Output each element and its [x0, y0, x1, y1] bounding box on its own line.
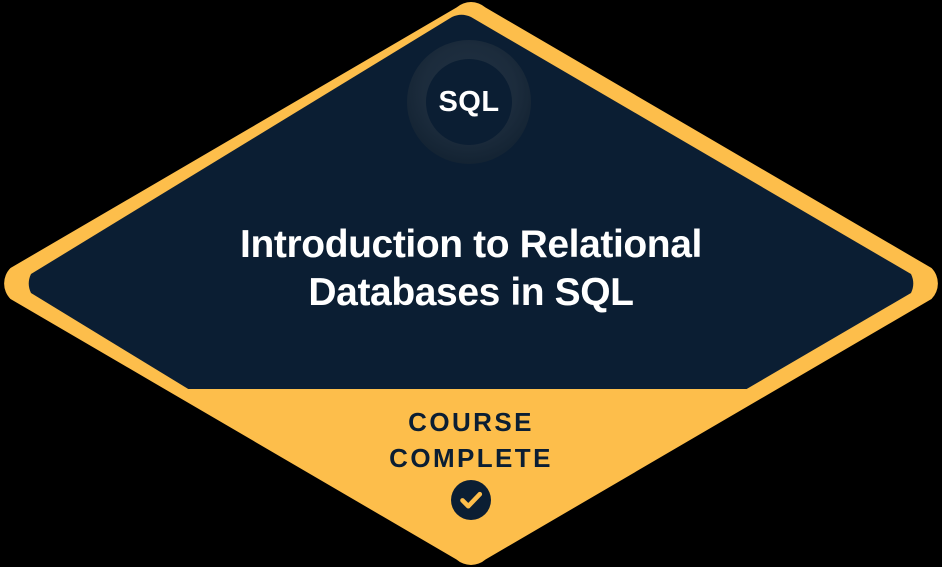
completion-line-complete: COMPLETE [171, 440, 771, 476]
sql-ring-logo-icon: SQL [405, 38, 533, 166]
completion-line-course: COURSE [171, 404, 771, 440]
course-completion-badge: SQL Introduction to Relational Databases… [0, 0, 942, 567]
sql-logo-label: SQL [405, 38, 533, 166]
course-title: Introduction to Relational Databases in … [110, 221, 832, 317]
completion-status: COURSE COMPLETE [171, 404, 771, 476]
check-circle-icon [451, 480, 491, 520]
check-circle-shape [451, 480, 491, 520]
